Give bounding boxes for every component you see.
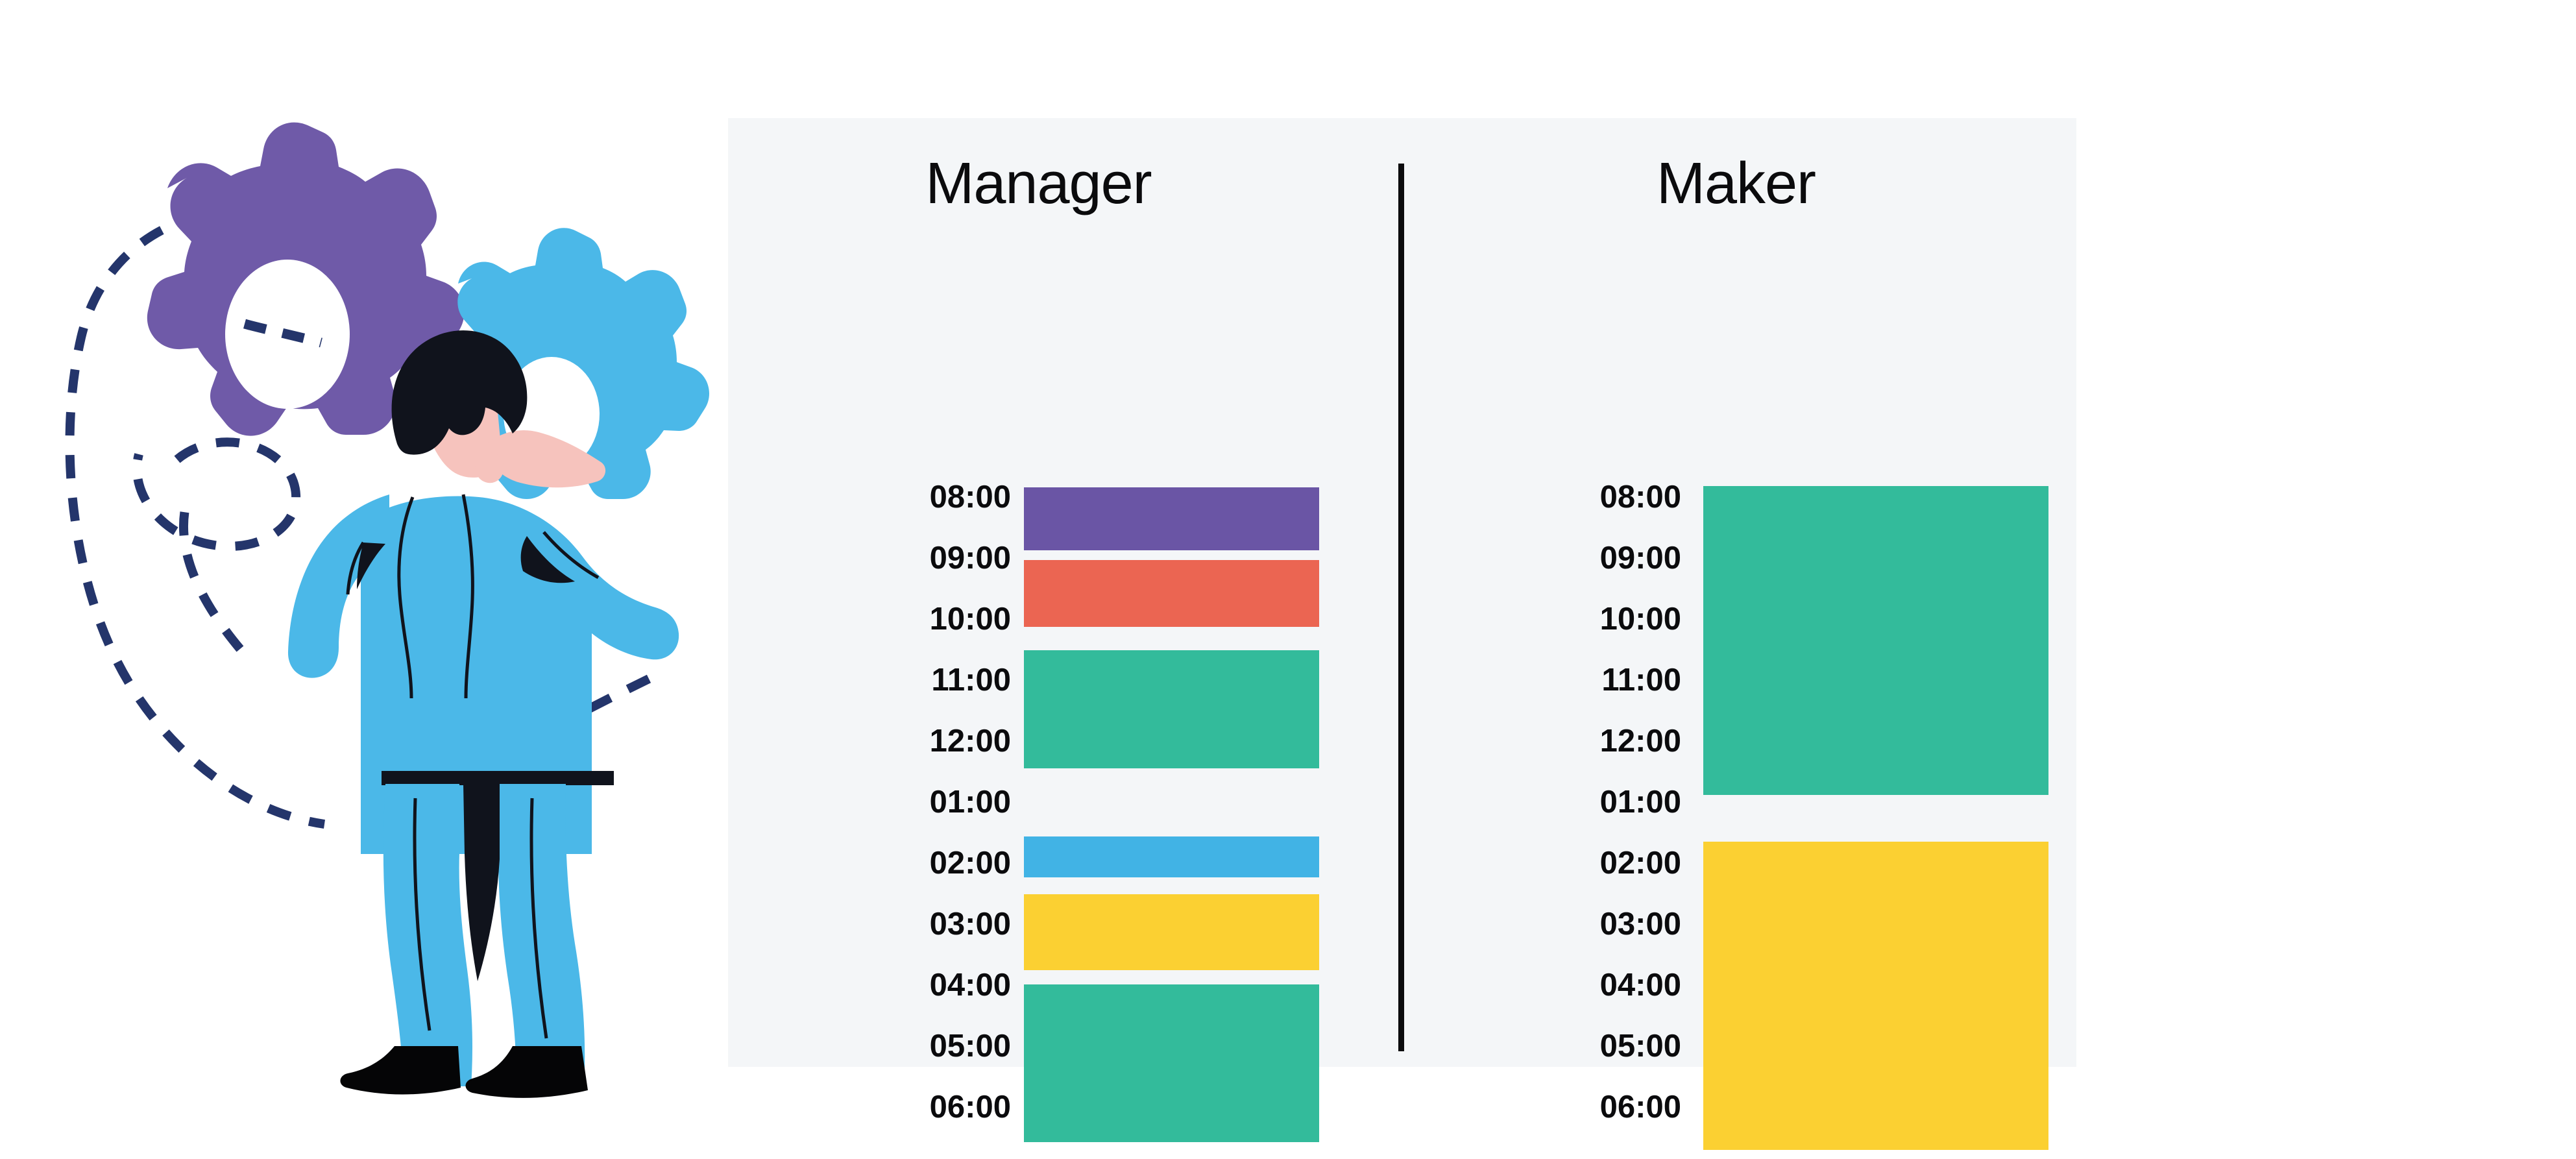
- schedule-block[interactable]: [1024, 894, 1319, 970]
- time-axis-maker: 08:00 09:00 10:00 11:00 12:00 01:00 02:0…: [1474, 482, 1681, 1092]
- time-label: 05:00: [803, 1031, 1011, 1062]
- schedule-block[interactable]: [1024, 650, 1319, 768]
- time-label: 06:00: [803, 1092, 1011, 1123]
- schedule-block[interactable]: [1703, 486, 2048, 795]
- schedule-blocks-manager: [1024, 482, 1319, 1098]
- schedule-block[interactable]: [1024, 487, 1319, 550]
- time-label: 12:00: [1474, 726, 1681, 757]
- time-label: 04:00: [1474, 970, 1681, 1001]
- column-title-manager: Manager: [703, 154, 1374, 213]
- time-label: 08:00: [803, 482, 1011, 513]
- time-axis-manager: 08:00 09:00 10:00 11:00 12:00 01:00 02:0…: [803, 482, 1011, 1092]
- time-label: 01:00: [803, 787, 1011, 818]
- time-label: 08:00: [1474, 482, 1681, 513]
- time-label: 12:00: [803, 726, 1011, 757]
- schedule-panel: Manager 08:00 09:00 10:00 11:00 12:00 01…: [728, 118, 2076, 1067]
- schedule-block[interactable]: [1024, 836, 1319, 877]
- time-label: 11:00: [1474, 665, 1681, 696]
- schedule-block[interactable]: [1703, 842, 2048, 1150]
- time-label: 02:00: [803, 848, 1011, 879]
- time-label: 04:00: [803, 970, 1011, 1001]
- time-label: 10:00: [803, 604, 1011, 635]
- schedule-block[interactable]: [1024, 560, 1319, 627]
- schedule-blocks-maker: [1703, 482, 2048, 1098]
- illustration-thinking-businessman: [0, 0, 728, 1159]
- time-label: 01:00: [1474, 787, 1681, 818]
- time-label: 09:00: [803, 543, 1011, 574]
- time-label: 02:00: [1474, 848, 1681, 879]
- column-maker: Maker 08:00 09:00 10:00 11:00 12:00 01:0…: [1403, 118, 2076, 1067]
- screenshot-canvas: Manager 08:00 09:00 10:00 11:00 12:00 01…: [0, 0, 2576, 1159]
- column-title-maker: Maker: [1400, 154, 2072, 213]
- column-manager: Manager 08:00 09:00 10:00 11:00 12:00 01…: [728, 118, 1398, 1067]
- time-label: 03:00: [1474, 909, 1681, 940]
- time-label: 05:00: [1474, 1031, 1681, 1062]
- time-label: 09:00: [1474, 543, 1681, 574]
- time-label: 11:00: [803, 665, 1011, 696]
- time-label: 03:00: [803, 909, 1011, 940]
- time-label: 10:00: [1474, 604, 1681, 635]
- schedule-block[interactable]: [1024, 984, 1319, 1142]
- time-label: 06:00: [1474, 1092, 1681, 1123]
